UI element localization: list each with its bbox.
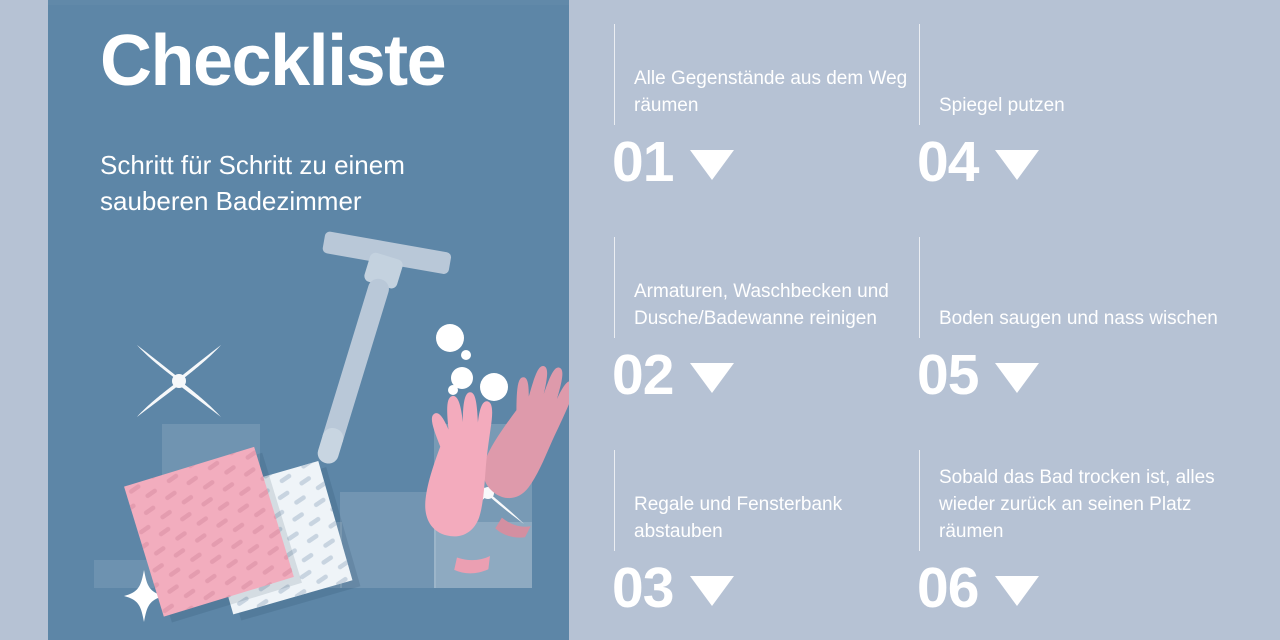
title-panel: Checkliste Schritt für Schritt zu einem … xyxy=(48,0,569,640)
triangle-down-icon xyxy=(690,576,734,606)
step-number-row: 01 xyxy=(612,134,734,191)
checklist-steps: Alle Gegenstände aus dem Weg räumen 01 A… xyxy=(569,0,1280,640)
step-text: Sobald das Bad trocken ist, alles wieder… xyxy=(939,465,1221,546)
step-item-02[interactable]: Armaturen, Waschbecken und Dusche/Badewa… xyxy=(614,213,922,426)
steps-column-left: Alle Gegenstände aus dem Weg räumen 01 A… xyxy=(614,0,922,640)
infographic-root: Checkliste Schritt für Schritt zu einem … xyxy=(0,0,1280,640)
step-divider-line xyxy=(919,450,920,551)
step-text: Spiegel putzen xyxy=(939,93,1221,120)
step-item-01[interactable]: Alle Gegenstände aus dem Weg räumen 01 xyxy=(614,0,922,213)
page-subtitle: Schritt für Schritt zu einem sauberen Ba… xyxy=(100,148,520,220)
triangle-down-icon xyxy=(995,576,1039,606)
step-text: Armaturen, Waschbecken und Dusche/Badewa… xyxy=(634,279,916,333)
step-number: 06 xyxy=(917,560,978,617)
step-text: Boden saugen und nass wischen xyxy=(939,306,1221,333)
step-divider-line xyxy=(919,24,920,125)
triangle-down-icon xyxy=(690,150,734,180)
soap-bubbles xyxy=(436,324,508,401)
step-number: 01 xyxy=(612,134,673,191)
step-number-row: 05 xyxy=(917,347,1039,404)
squeegee-icon xyxy=(261,216,455,481)
sparkle-icon xyxy=(137,343,244,421)
step-number: 03 xyxy=(612,560,673,617)
step-number-row: 02 xyxy=(612,347,734,404)
steps-column-right: Spiegel putzen 04 Boden saugen und nass … xyxy=(919,0,1227,640)
triangle-down-icon xyxy=(995,363,1039,393)
step-number-row: 04 xyxy=(917,134,1039,191)
step-item-06[interactable]: Sobald das Bad trocken ist, alles wieder… xyxy=(919,426,1227,639)
step-number: 05 xyxy=(917,347,978,404)
step-divider-line xyxy=(614,450,615,551)
triangle-down-icon xyxy=(995,150,1039,180)
step-number: 04 xyxy=(917,134,978,191)
step-text: Alle Gegenstände aus dem Weg räumen xyxy=(634,66,916,120)
step-number-row: 03 xyxy=(612,560,734,617)
step-divider-line xyxy=(614,24,615,125)
step-text: Regale und Fensterbank abstauben xyxy=(634,492,916,546)
page-title: Checkliste xyxy=(100,24,445,100)
step-item-05[interactable]: Boden saugen und nass wischen 05 xyxy=(919,213,1227,426)
step-number: 02 xyxy=(612,347,673,404)
step-number-row: 06 xyxy=(917,560,1039,617)
triangle-down-icon xyxy=(690,363,734,393)
step-divider-line xyxy=(614,237,615,338)
step-item-03[interactable]: Regale und Fensterbank abstauben 03 xyxy=(614,426,922,639)
step-divider-line xyxy=(919,237,920,338)
step-item-04[interactable]: Spiegel putzen 04 xyxy=(919,0,1227,213)
